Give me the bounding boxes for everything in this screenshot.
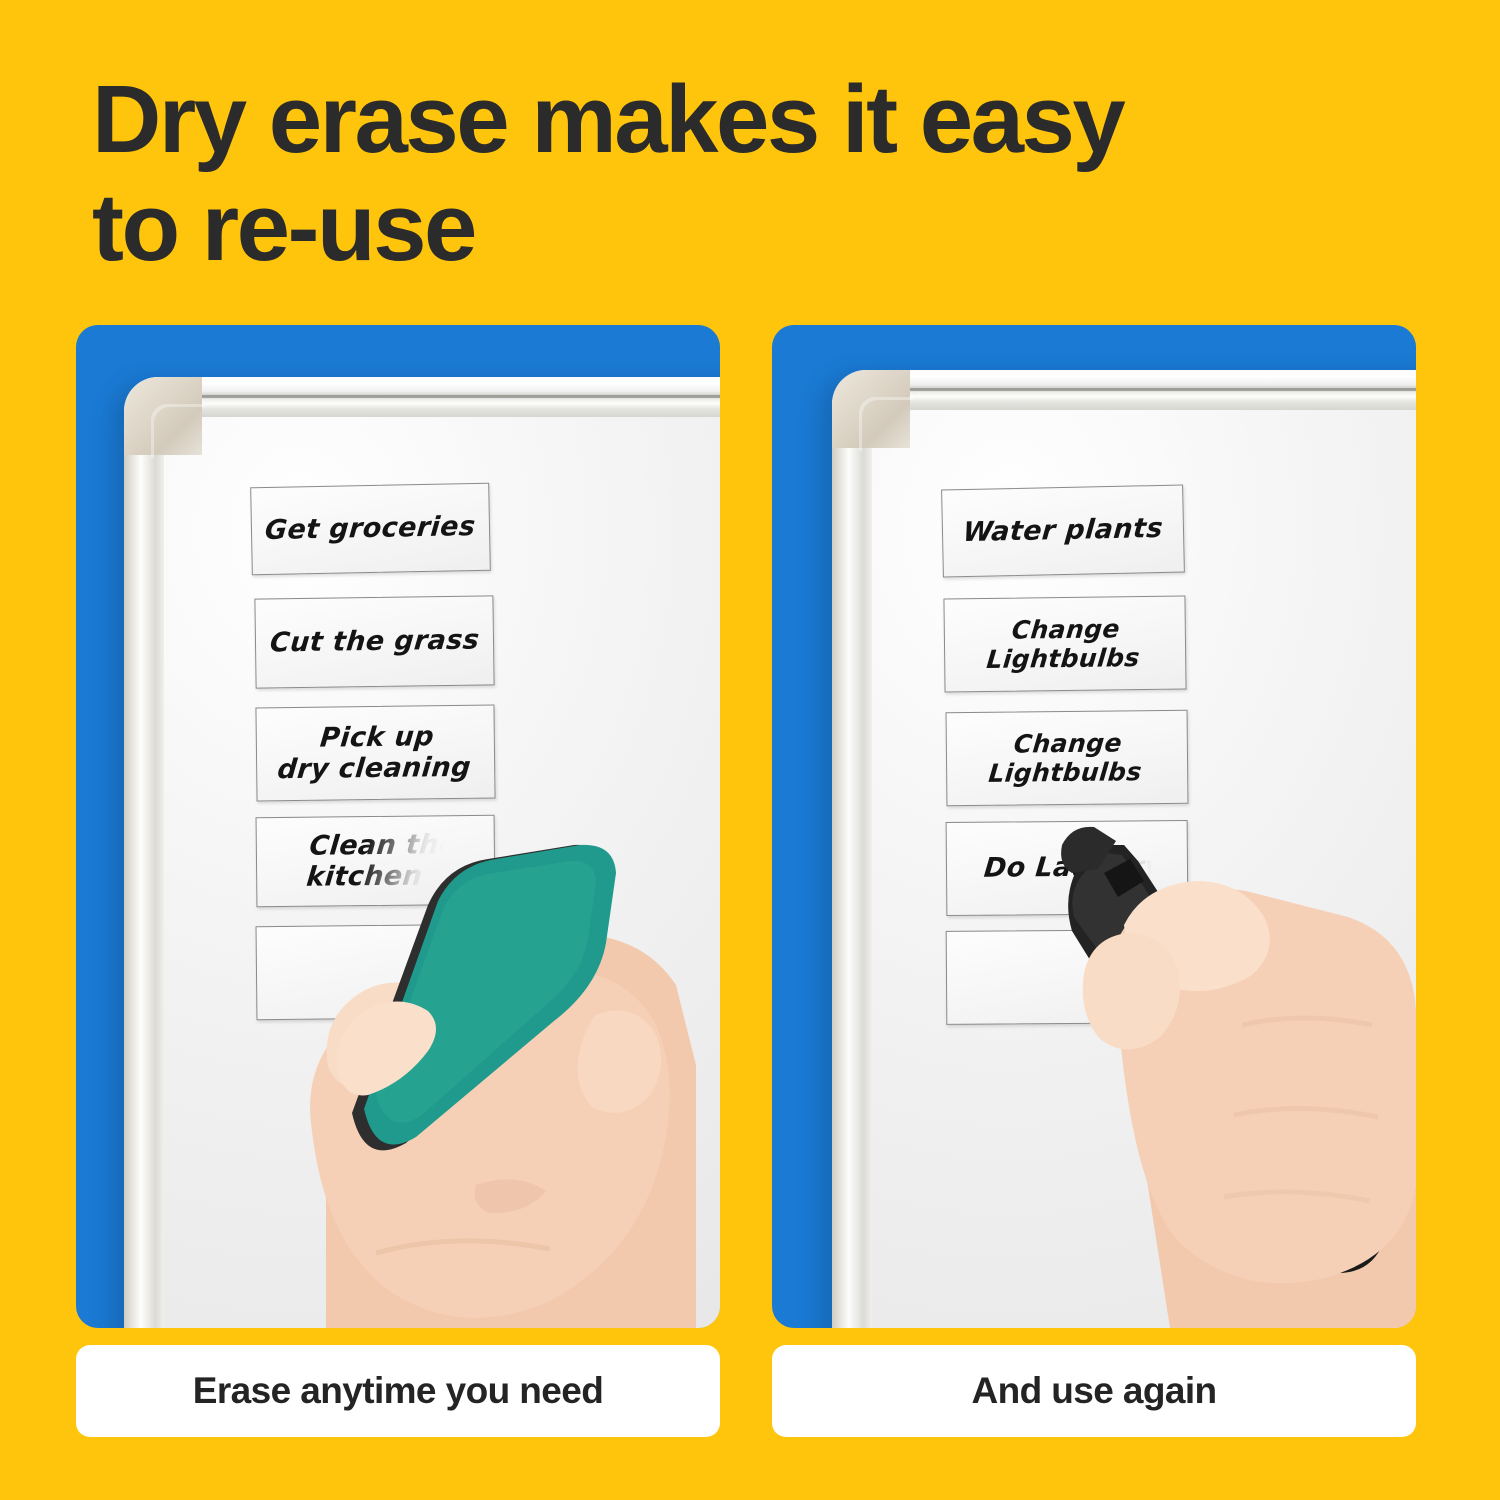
frame-left-edge: [832, 400, 872, 1328]
note-card: Change Lightbulbs: [946, 710, 1189, 807]
page-title: Dry erase makes it easy to re-use: [92, 66, 1392, 281]
caption-erase: Erase anytime you need: [76, 1345, 720, 1437]
frame-top-rail: [158, 377, 720, 417]
note-text: Change Lightbulbs: [986, 614, 1145, 674]
note-text: Water plants: [962, 513, 1164, 549]
product-feature-image: Dry erase makes it easy to re-use Get gr…: [0, 0, 1500, 1500]
note-card-blank: [256, 924, 496, 1020]
note-card: Change Lightbulbs: [943, 596, 1186, 693]
note-card: Cut the grass: [254, 595, 494, 688]
note-card-blank: [946, 929, 1189, 1025]
frame-top-rail: [866, 370, 1416, 410]
frame-left-edge: [124, 407, 164, 1328]
frame-corner-cap: [832, 370, 910, 448]
caption-reuse: And use again: [772, 1345, 1416, 1437]
note-text: Change Lightbulbs: [988, 728, 1147, 788]
note-card: Pick up dry cleaning: [255, 705, 495, 802]
note-text: Pick up dry cleaning: [276, 720, 475, 785]
note-card: Get groceries: [250, 483, 491, 576]
note-card-being-erased: Clean the kitchen: [256, 815, 496, 907]
frame-corner-cap: [124, 377, 202, 455]
note-text: Cut the grass: [268, 625, 480, 659]
note-text: Get groceries: [264, 511, 477, 546]
note-text: Clean the kitchen: [291, 829, 459, 893]
panel-erase: Get groceries Cut the grass Pick up dry …: [76, 325, 720, 1328]
caption-text: Erase anytime you need: [193, 1370, 603, 1412]
note-text: Do Laundry: [970, 851, 1163, 884]
panel-reuse: Water plants Change Lightbulbs Change Li…: [772, 325, 1416, 1328]
note-card: Water plants: [941, 484, 1185, 577]
caption-text: And use again: [971, 1370, 1216, 1412]
note-card-being-written: Do Laundry: [946, 820, 1189, 916]
